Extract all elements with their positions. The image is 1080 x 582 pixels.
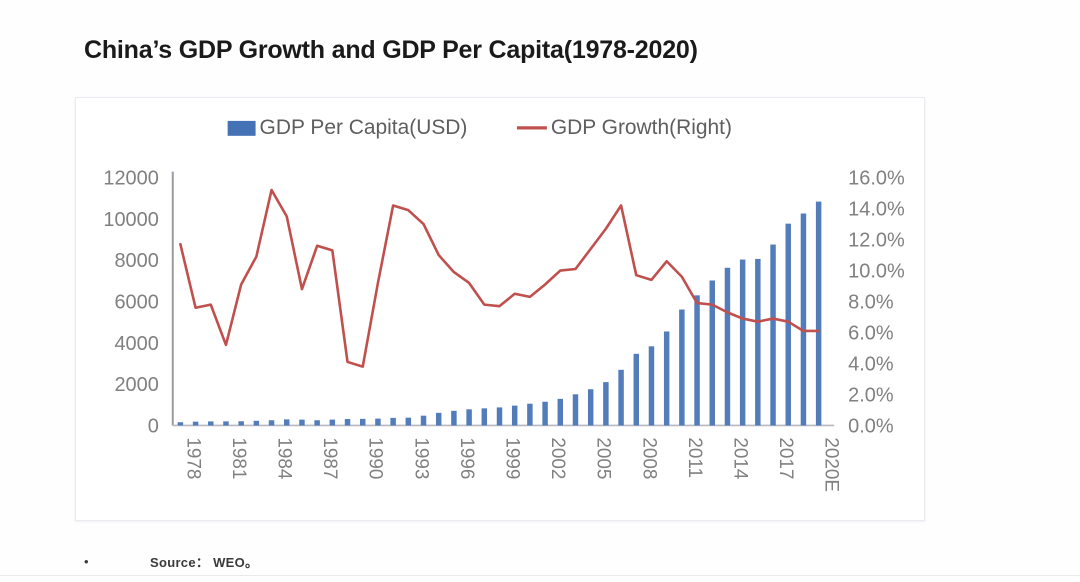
bar — [786, 224, 791, 426]
bar — [390, 418, 395, 426]
bar — [740, 260, 745, 426]
bar — [406, 418, 411, 426]
bar — [193, 422, 198, 426]
bar — [527, 404, 532, 426]
right-axis-tick-label: 6.0% — [848, 323, 893, 345]
bar — [588, 389, 593, 425]
chart-x-axis: 1978198119841987199019931996199920022005… — [173, 425, 842, 492]
x-axis-tick-label: 1996 — [456, 437, 477, 479]
left-axis-tick-label: 2000 — [114, 374, 158, 396]
x-axis-tick-label: 1984 — [274, 437, 295, 479]
bar — [816, 202, 821, 426]
bar — [558, 399, 563, 426]
bar — [269, 420, 274, 425]
footer-note: • Source： WEO。 — [84, 552, 258, 571]
x-axis-tick-label: 2020E — [821, 437, 842, 492]
chart-bars-series — [178, 202, 822, 426]
bar — [178, 422, 183, 425]
bar — [345, 419, 350, 425]
bar — [679, 310, 684, 426]
bar — [223, 421, 228, 425]
bar — [801, 214, 806, 426]
bar — [436, 413, 441, 426]
combo-chart: GDP Per Capita(USD)GDP Growth(Right) 020… — [76, 98, 924, 520]
x-axis-tick-label: 2005 — [593, 437, 614, 479]
chart-left-axis: 020004000600080001000012000 — [103, 168, 172, 438]
right-axis-tick-label: 2.0% — [848, 384, 893, 406]
x-axis-tick-label: 2002 — [547, 437, 568, 479]
left-axis-tick-label: 10000 — [103, 209, 158, 231]
chart-legend: GDP Per Capita(USD)GDP Growth(Right) — [228, 116, 732, 139]
bar — [208, 421, 213, 425]
left-axis-tick-label: 8000 — [114, 250, 158, 272]
right-axis-tick-label: 8.0% — [848, 292, 893, 314]
left-axis-tick-label: 0 — [148, 415, 159, 437]
right-axis-tick-label: 14.0% — [848, 199, 905, 221]
bullet-icon: • — [84, 555, 150, 568]
bar — [618, 370, 623, 426]
bar — [254, 421, 259, 426]
x-axis-tick-label: 1990 — [365, 437, 386, 479]
bar — [375, 419, 380, 426]
bar — [284, 419, 289, 425]
bar — [755, 259, 760, 426]
bar — [238, 421, 243, 425]
x-axis-tick-label: 1981 — [228, 437, 249, 479]
chart-right-axis: 0.0%2.0%4.0%6.0%8.0%10.0%12.0%14.0%16.0% — [848, 168, 905, 438]
right-axis-tick-label: 12.0% — [848, 230, 905, 252]
source-label: Source： WEO。 — [150, 552, 258, 571]
bar — [573, 394, 578, 425]
chart-card: GDP Per Capita(USD)GDP Growth(Right) 020… — [75, 97, 925, 521]
bar — [421, 416, 426, 426]
bar — [725, 268, 730, 426]
bar — [664, 331, 669, 425]
x-axis-tick-label: 2017 — [775, 437, 796, 479]
right-axis-tick-label: 10.0% — [848, 261, 905, 283]
slide-canvas: China’s GDP Growth and GDP Per Capita(19… — [0, 0, 1080, 582]
bar — [466, 409, 471, 425]
legend-label: GDP Per Capita(USD) — [260, 116, 468, 139]
bar — [330, 420, 335, 426]
bar — [512, 406, 517, 426]
bar — [634, 354, 639, 426]
bar — [694, 295, 699, 425]
page-title: China’s GDP Growth and GDP Per Capita(19… — [84, 36, 698, 65]
bar — [603, 382, 608, 425]
x-axis-tick-label: 1999 — [501, 437, 522, 479]
right-axis-tick-label: 16.0% — [848, 168, 905, 190]
x-axis-tick-label: 1987 — [319, 437, 340, 479]
left-axis-tick-label: 6000 — [114, 292, 158, 314]
bar — [497, 407, 502, 425]
growth-line — [180, 190, 818, 367]
x-axis-tick-label: 2008 — [638, 437, 659, 479]
left-axis-tick-label: 12000 — [103, 168, 158, 190]
bar — [299, 420, 304, 426]
x-axis-tick-label: 1993 — [410, 437, 431, 479]
right-axis-tick-label: 0.0% — [848, 415, 893, 437]
left-axis-tick-label: 4000 — [114, 333, 158, 355]
bar — [542, 402, 547, 426]
bar — [649, 346, 654, 425]
bar — [770, 245, 775, 426]
right-axis-tick-label: 4.0% — [848, 353, 893, 375]
bar — [314, 420, 319, 425]
x-axis-tick-label: 2011 — [684, 437, 705, 478]
chart-line-series — [180, 190, 818, 367]
bottom-divider — [0, 575, 1080, 576]
legend-swatch-bar — [228, 121, 256, 136]
legend-label: GDP Growth(Right) — [551, 116, 732, 139]
bar — [710, 280, 715, 425]
x-axis-tick-label: 2014 — [729, 437, 750, 479]
bar — [482, 408, 487, 425]
bar — [360, 419, 365, 426]
x-axis-tick-label: 1978 — [182, 437, 203, 479]
bar — [451, 411, 456, 426]
